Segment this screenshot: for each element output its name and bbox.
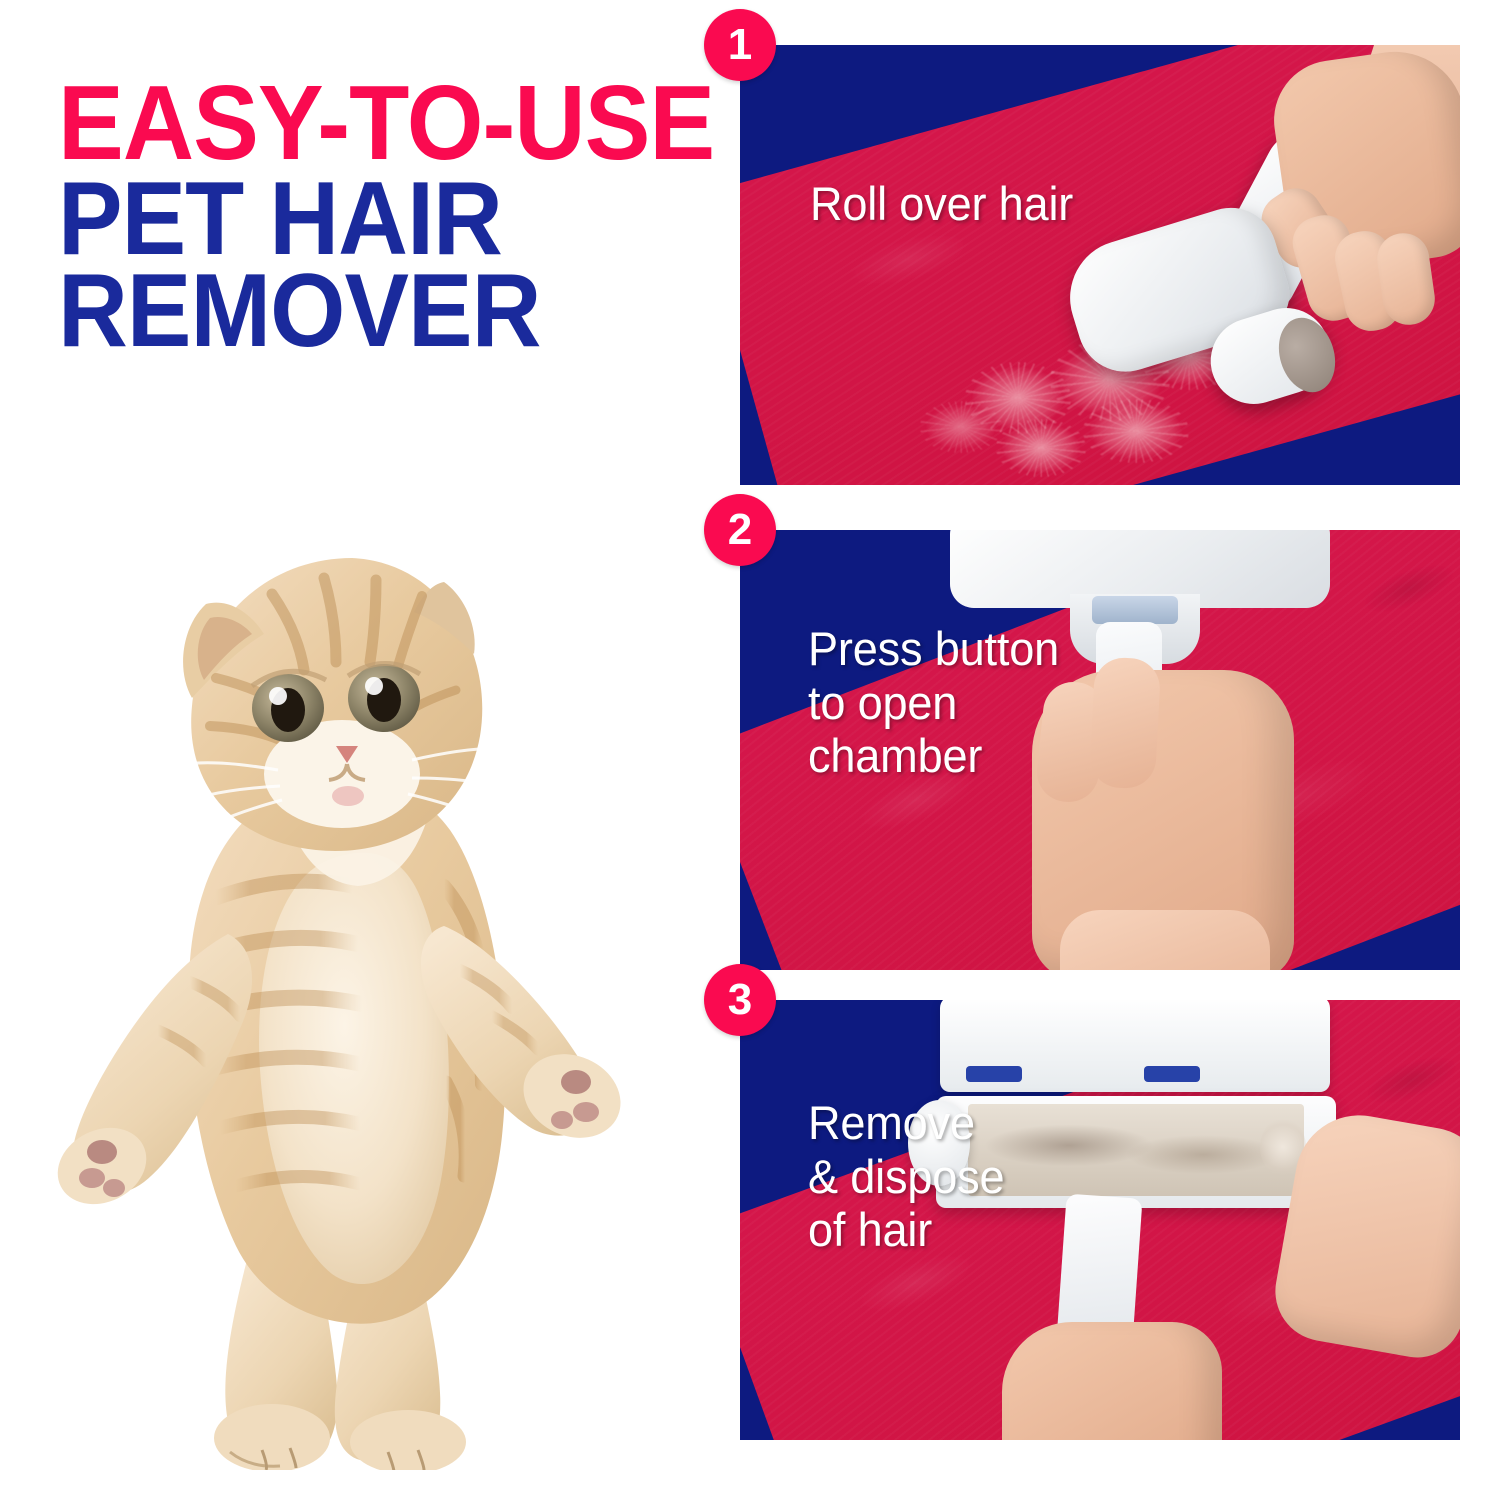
step-panel-1: Roll over hair 1 bbox=[740, 45, 1460, 485]
left-column: EASY-TO-USE PET HAIR REMOVER bbox=[0, 0, 710, 1500]
step-3-caption: Remove & dispose of hair bbox=[808, 1096, 1004, 1257]
step-1-caption: Roll over hair bbox=[810, 177, 1073, 231]
infographic-page: EASY-TO-USE PET HAIR REMOVER bbox=[0, 0, 1500, 1500]
headline-line-2: PET HAIR bbox=[58, 175, 653, 264]
headline-line-1: EASY-TO-USE bbox=[58, 78, 653, 169]
page-title: EASY-TO-USE PET HAIR REMOVER bbox=[58, 78, 698, 356]
lid-hinge bbox=[1144, 1066, 1200, 1082]
step-2-scene: Press button to open chamber bbox=[740, 530, 1460, 970]
cat-head bbox=[176, 558, 520, 851]
step-badge-3: 3 bbox=[704, 964, 776, 1036]
cat-illustration bbox=[40, 530, 680, 1470]
lint-roller-artwork-1 bbox=[740, 45, 1460, 485]
steps-column: Roll over hair 1 bbox=[740, 0, 1500, 1500]
caption-line: Press button bbox=[808, 622, 1059, 676]
hand-holding-roller bbox=[1002, 1322, 1222, 1440]
caption-line: to open bbox=[808, 676, 1059, 730]
caption-line: Remove bbox=[808, 1096, 1004, 1150]
step-1-scene: Roll over hair bbox=[740, 45, 1460, 485]
hair-chamber bbox=[968, 1104, 1304, 1196]
knuckle bbox=[1089, 656, 1162, 789]
hero-cat-image bbox=[40, 530, 680, 1470]
step-panel-2: Press button to open chamber 2 bbox=[740, 530, 1460, 970]
step-2-caption: Press button to open chamber bbox=[808, 622, 1059, 783]
step-3-scene: Remove & dispose of hair bbox=[740, 1000, 1460, 1440]
caption-line: & dispose bbox=[808, 1150, 1004, 1204]
lid-hinge bbox=[966, 1066, 1022, 1082]
release-button bbox=[1092, 596, 1178, 624]
headline-line-3: REMOVER bbox=[58, 267, 653, 356]
caption-line: Roll over hair bbox=[810, 177, 1073, 231]
step-badge-1: 1 bbox=[704, 9, 776, 81]
wrist bbox=[1060, 910, 1270, 970]
step-panel-3: Remove & dispose of hair 3 bbox=[740, 1000, 1460, 1440]
step-badge-2: 2 bbox=[704, 494, 776, 566]
caption-line: chamber bbox=[808, 729, 1059, 783]
caption-line: of hair bbox=[808, 1203, 1004, 1257]
